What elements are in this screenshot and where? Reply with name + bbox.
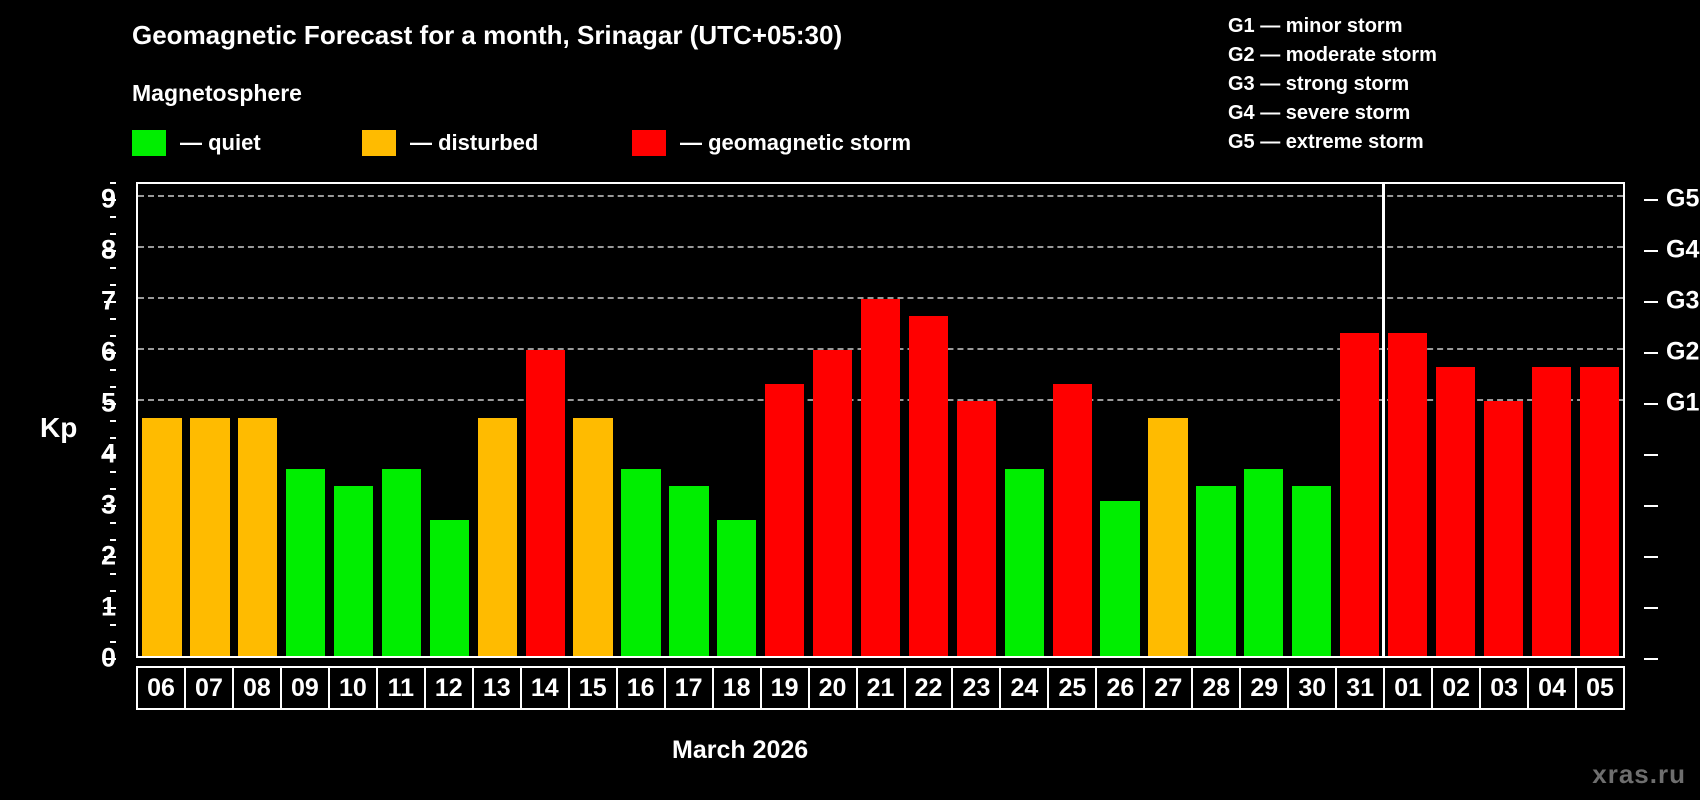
g-axis-tick-mark-G4 — [1644, 250, 1658, 252]
bar-day-19[interactable] — [765, 384, 804, 656]
bar-slot-01[interactable] — [1384, 184, 1432, 656]
orange-square-icon — [362, 130, 396, 156]
plot-area — [136, 182, 1625, 658]
bar-day-16[interactable] — [621, 469, 660, 656]
bar-slot-16[interactable] — [617, 184, 665, 656]
bar-day-05[interactable] — [1580, 367, 1619, 656]
bar-day-06[interactable] — [142, 418, 181, 656]
x-axis-day-labels: 0607080910111213141516171819202122232425… — [136, 666, 1625, 710]
bar-slot-07[interactable] — [186, 184, 234, 656]
bar-slot-15[interactable] — [569, 184, 617, 656]
y-tick-mark-9 — [104, 199, 116, 201]
bar-day-31[interactable] — [1340, 333, 1379, 656]
legend-item-label: — quiet — [180, 130, 261, 156]
bar-day-21[interactable] — [861, 299, 900, 656]
bar-slot-18[interactable] — [713, 184, 761, 656]
bar-day-27[interactable] — [1148, 418, 1187, 656]
bar-day-08[interactable] — [238, 418, 277, 656]
x-axis-day-09[interactable]: 09 — [282, 668, 330, 708]
y-minor-tick — [110, 522, 116, 524]
x-axis-day-28[interactable]: 28 — [1193, 668, 1241, 708]
x-axis-day-17[interactable]: 17 — [666, 668, 714, 708]
x-axis-day-14[interactable]: 14 — [522, 668, 570, 708]
bar-slot-17[interactable] — [665, 184, 713, 656]
bar-day-17[interactable] — [669, 486, 708, 656]
bar-day-15[interactable] — [573, 418, 612, 656]
y-tick-mark-5 — [104, 403, 116, 405]
bar-slot-14[interactable] — [521, 184, 569, 656]
x-axis-day-18[interactable]: 18 — [714, 668, 762, 708]
bar-day-12[interactable] — [430, 520, 469, 656]
bar-slot-09[interactable] — [282, 184, 330, 656]
y-tick-mark-2 — [104, 556, 116, 558]
bar-day-01[interactable] — [1388, 333, 1427, 656]
y-minor-tick — [110, 641, 116, 643]
x-axis-day-08[interactable]: 08 — [234, 668, 282, 708]
bar-day-28[interactable] — [1196, 486, 1235, 656]
x-axis-day-13[interactable]: 13 — [474, 668, 522, 708]
x-axis-day-25[interactable]: 25 — [1049, 668, 1097, 708]
legend-item-label: — disturbed — [410, 130, 538, 156]
bar-slot-05[interactable] — [1575, 184, 1623, 656]
g-axis-tick-G3: G3 — [1666, 286, 1699, 315]
y-tick-mark-7 — [104, 301, 116, 303]
y-minor-tick — [110, 267, 116, 269]
g-scale-row-5: G5 — extreme storm — [1228, 128, 1437, 157]
y-axis: 9876543210 — [76, 182, 116, 658]
bar-day-23[interactable] — [957, 401, 996, 656]
y-minor-tick — [110, 437, 116, 439]
x-axis-day-31[interactable]: 31 — [1337, 668, 1385, 708]
x-axis-day-03[interactable]: 03 — [1481, 668, 1529, 708]
bar-day-11[interactable] — [382, 469, 421, 656]
bar-day-26[interactable] — [1100, 501, 1139, 656]
bar-day-29[interactable] — [1244, 469, 1283, 656]
g-axis-tick-G2: G2 — [1666, 337, 1699, 366]
x-axis-day-24[interactable]: 24 — [1001, 668, 1049, 708]
y-minor-tick — [110, 284, 116, 286]
y-minor-tick — [110, 488, 116, 490]
bar-slot-02[interactable] — [1431, 184, 1479, 656]
bar-day-10[interactable] — [334, 486, 373, 656]
bar-slot-19[interactable] — [761, 184, 809, 656]
g-axis-tick-mark-G3 — [1644, 301, 1658, 303]
bar-slot-10[interactable] — [330, 184, 378, 656]
legend-item-1: — disturbed — [362, 130, 538, 156]
bar-day-30[interactable] — [1292, 486, 1331, 656]
g-axis-minor-tick — [1644, 454, 1658, 456]
y-minor-tick — [110, 369, 116, 371]
y-tick-mark-4 — [104, 454, 116, 456]
g-axis-tick-G5: G5 — [1666, 184, 1699, 213]
g-axis-minor-tick — [1644, 658, 1658, 660]
bar-slot-20[interactable] — [809, 184, 857, 656]
legend-item-2: — geomagnetic storm — [632, 130, 911, 156]
chart-page: Geomagnetic Forecast for a month, Srinag… — [0, 0, 1700, 800]
bar-slot-27[interactable] — [1144, 184, 1192, 656]
g-axis-tick-mark-G1 — [1644, 403, 1658, 405]
bar-day-03[interactable] — [1484, 401, 1523, 656]
month-divider-line — [1382, 184, 1385, 656]
g-axis-tick-G4: G4 — [1666, 235, 1699, 264]
x-axis-day-22[interactable]: 22 — [906, 668, 954, 708]
bar-slot-22[interactable] — [905, 184, 953, 656]
bar-slot-21[interactable] — [857, 184, 905, 656]
green-square-icon — [132, 130, 166, 156]
g-axis-tick-G1: G1 — [1666, 388, 1699, 417]
y-minor-tick — [110, 624, 116, 626]
x-axis-day-30[interactable]: 30 — [1289, 668, 1337, 708]
x-axis-day-11[interactable]: 11 — [378, 668, 426, 708]
bar-slot-28[interactable] — [1192, 184, 1240, 656]
x-axis-day-29[interactable]: 29 — [1241, 668, 1289, 708]
x-axis-day-12[interactable]: 12 — [426, 668, 474, 708]
bar-slot-06[interactable] — [138, 184, 186, 656]
x-axis-day-15[interactable]: 15 — [570, 668, 618, 708]
bar-slot-12[interactable] — [425, 184, 473, 656]
y-axis-label: Kp — [40, 412, 77, 444]
bar-slot-11[interactable] — [378, 184, 426, 656]
legend-item-0: — quiet — [132, 130, 261, 156]
g-axis-minor-tick — [1644, 556, 1658, 558]
x-axis-day-19[interactable]: 19 — [762, 668, 810, 708]
x-axis-day-20[interactable]: 20 — [810, 668, 858, 708]
x-axis-label: March 2026 — [672, 736, 808, 765]
y-tick-mark-1 — [104, 607, 116, 609]
bar-day-14[interactable] — [526, 350, 565, 656]
bar-day-02[interactable] — [1436, 367, 1475, 656]
legend-heading: Magnetosphere — [132, 80, 302, 107]
y-minor-tick — [110, 471, 116, 473]
g-scale-axis: G5G4G3G2G1 — [1644, 182, 1700, 658]
bar-slot-25[interactable] — [1048, 184, 1096, 656]
y-minor-tick — [110, 539, 116, 541]
x-axis-day-01[interactable]: 01 — [1385, 668, 1433, 708]
g-axis-tick-mark-G2 — [1644, 352, 1658, 354]
g-axis-minor-tick — [1644, 607, 1658, 609]
y-minor-tick — [110, 420, 116, 422]
x-axis-day-21[interactable]: 21 — [858, 668, 906, 708]
x-axis-day-23[interactable]: 23 — [953, 668, 1001, 708]
y-minor-tick — [110, 573, 116, 575]
y-minor-tick — [110, 590, 116, 592]
g-axis-minor-tick — [1644, 505, 1658, 507]
y-tick-mark-8 — [104, 250, 116, 252]
y-tick-mark-3 — [104, 505, 116, 507]
x-axis-day-26[interactable]: 26 — [1097, 668, 1145, 708]
g-scale-row-4: G4 — severe storm — [1228, 99, 1437, 128]
bar-day-04[interactable] — [1532, 367, 1571, 656]
y-tick-mark-6 — [104, 352, 116, 354]
g-scale-row-3: G3 — strong storm — [1228, 70, 1437, 99]
x-axis-day-07[interactable]: 07 — [186, 668, 234, 708]
bar-day-24[interactable] — [1005, 469, 1044, 656]
bar-slot-23[interactable] — [952, 184, 1000, 656]
bar-slot-08[interactable] — [234, 184, 282, 656]
bar-slot-31[interactable] — [1336, 184, 1384, 656]
y-minor-tick — [110, 233, 116, 235]
x-axis-day-04[interactable]: 04 — [1529, 668, 1577, 708]
x-axis-day-06[interactable]: 06 — [138, 668, 186, 708]
y-minor-tick — [110, 318, 116, 320]
g-axis-tick-mark-G5 — [1644, 199, 1658, 201]
y-tick-mark-0 — [104, 658, 116, 660]
x-axis-day-10[interactable]: 10 — [330, 668, 378, 708]
bar-day-13[interactable] — [478, 418, 517, 656]
x-axis-day-05[interactable]: 05 — [1577, 668, 1623, 708]
y-minor-tick — [110, 182, 116, 184]
bar-slot-29[interactable] — [1240, 184, 1288, 656]
bar-day-09[interactable] — [286, 469, 325, 656]
bar-day-07[interactable] — [190, 418, 229, 656]
bar-series — [138, 184, 1623, 656]
y-minor-tick — [110, 216, 116, 218]
bar-slot-13[interactable] — [473, 184, 521, 656]
legend-item-label: — geomagnetic storm — [680, 130, 911, 156]
bar-slot-30[interactable] — [1288, 184, 1336, 656]
y-minor-tick — [110, 386, 116, 388]
bar-slot-24[interactable] — [1000, 184, 1048, 656]
x-axis-day-27[interactable]: 27 — [1145, 668, 1193, 708]
bar-day-25[interactable] — [1053, 384, 1092, 656]
bar-day-22[interactable] — [909, 316, 948, 656]
g-scale-legend: G1 — minor stormG2 — moderate stormG3 — … — [1228, 12, 1437, 157]
g-scale-row-2: G2 — moderate storm — [1228, 41, 1437, 70]
bar-slot-04[interactable] — [1527, 184, 1575, 656]
bar-slot-03[interactable] — [1479, 184, 1527, 656]
watermark: xras.ru — [1592, 759, 1686, 790]
bar-slot-26[interactable] — [1096, 184, 1144, 656]
g-scale-row-1: G1 — minor storm — [1228, 12, 1437, 41]
red-square-icon — [632, 130, 666, 156]
y-minor-tick — [110, 335, 116, 337]
x-axis-day-16[interactable]: 16 — [618, 668, 666, 708]
x-axis-day-02[interactable]: 02 — [1433, 668, 1481, 708]
bar-day-18[interactable] — [717, 520, 756, 656]
bar-day-20[interactable] — [813, 350, 852, 656]
page-title: Geomagnetic Forecast for a month, Srinag… — [132, 20, 842, 51]
